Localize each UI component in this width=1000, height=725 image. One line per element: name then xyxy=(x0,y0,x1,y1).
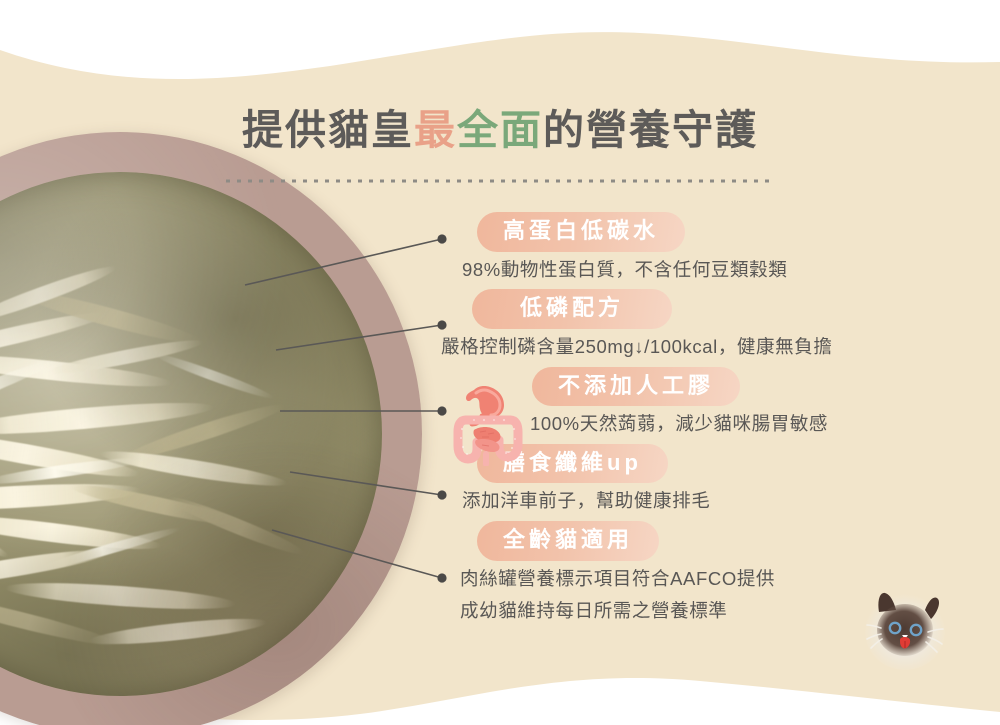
siamese-cat-face-icon xyxy=(855,578,955,678)
feature-desc-protein: 98%動物性蛋白質，不含任何豆類穀類 xyxy=(462,257,985,284)
can-contents xyxy=(0,172,382,696)
title-highlight-green: 全面 xyxy=(457,107,543,153)
page-title: 提供貓皇最全面的營養守護 xyxy=(0,108,1000,153)
feature-item-fiber: 膳食纖維up 添加洋車前子，幫助健康排毛 xyxy=(455,444,985,515)
feature-pill-phosphorus: 低磷配方 xyxy=(472,289,672,329)
feature-item-phosphorus: 低磷配方 嚴格控制磷含量250mg↓/100kcal，健康無負擔 xyxy=(455,289,985,360)
feature-desc-phosphorus: 嚴格控制磷含量250mg↓/100kcal，健康無負擔 xyxy=(441,334,985,361)
title-part-2: 的營養守護 xyxy=(543,107,758,153)
feature-pill-all-ages: 全齡貓適用 xyxy=(477,521,659,561)
title-dotted-divider xyxy=(225,179,771,183)
title-highlight-coral: 最 xyxy=(414,107,457,153)
feature-desc-fiber: 添加洋車前子，幫助健康排毛 xyxy=(462,488,985,515)
digestive-system-icon xyxy=(452,384,524,466)
feature-item-protein: 高蛋白低碳水 98%動物性蛋白質，不含任何豆類穀類 xyxy=(455,212,985,283)
feature-pill-no-gum: 不添加人工膠 xyxy=(532,367,740,407)
feature-desc-no-gum: 100%天然蒟蒻，減少貓咪腸胃敏感 xyxy=(530,411,985,438)
title-part-1: 提供貓皇 xyxy=(242,107,414,153)
feature-list: 高蛋白低碳水 98%動物性蛋白質，不含任何豆類穀類 低磷配方 嚴格控制磷含量25… xyxy=(455,212,985,630)
promo-banner: 提供貓皇最全面的營養守護 xyxy=(0,0,1000,725)
feature-pill-protein: 高蛋白低碳水 xyxy=(477,212,685,252)
feature-item-no-gum: 不添加人工膠 100%天然蒟蒻，減少貓咪腸胃敏感 xyxy=(455,367,985,438)
